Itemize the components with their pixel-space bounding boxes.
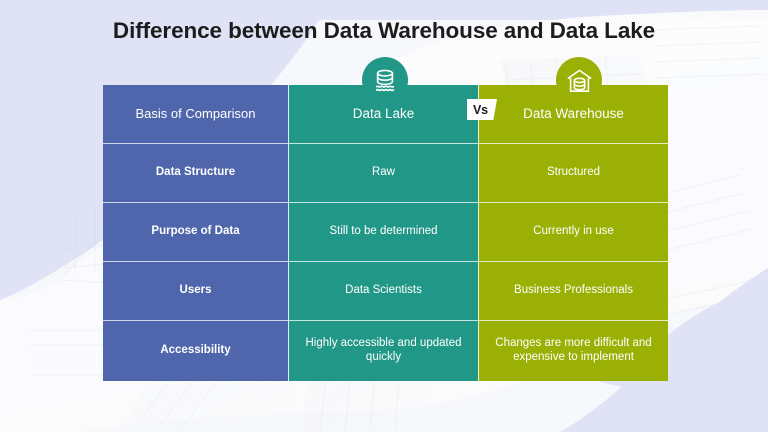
page-title: Difference between Data Warehouse and Da… <box>0 18 768 44</box>
vs-badge-label: Vs <box>473 103 488 117</box>
header-label-basis: Basis of Comparison <box>136 106 256 121</box>
row-label: Users <box>103 261 288 320</box>
table-row: Users Data Scientists Business Professio… <box>103 261 668 320</box>
row-value-data-lake: Data Scientists <box>288 261 478 320</box>
row-label: Data Structure <box>103 143 288 202</box>
row-value-data-lake: Still to be determined <box>288 202 478 261</box>
row-value-data-warehouse: Structured <box>478 143 668 202</box>
row-value-data-lake: Raw <box>288 143 478 202</box>
row-value-data-warehouse: Business Professionals <box>478 261 668 320</box>
table-row: Accessibility Highly accessible and upda… <box>103 320 668 381</box>
header-label-data-warehouse: Data Warehouse <box>523 106 624 122</box>
row-value-data-warehouse: Changes are more difficult and expensive… <box>478 320 668 381</box>
row-label: Accessibility <box>103 320 288 381</box>
row-label: Purpose of Data <box>103 202 288 261</box>
table-row: Data Structure Raw Structured <box>103 143 668 202</box>
vs-badge: Vs <box>467 99 497 120</box>
row-value-data-lake: Highly accessible and updated quickly <box>288 320 478 381</box>
header-label-data-lake: Data Lake <box>353 106 415 122</box>
table-row: Purpose of Data Still to be determined C… <box>103 202 668 261</box>
comparison-table: Basis of Comparison Data Lake Data Wareh… <box>103 85 668 381</box>
header-cell-basis: Basis of Comparison <box>103 85 288 143</box>
data-lake-icon <box>362 57 408 103</box>
data-warehouse-icon <box>556 57 602 103</box>
row-value-data-warehouse: Currently in use <box>478 202 668 261</box>
